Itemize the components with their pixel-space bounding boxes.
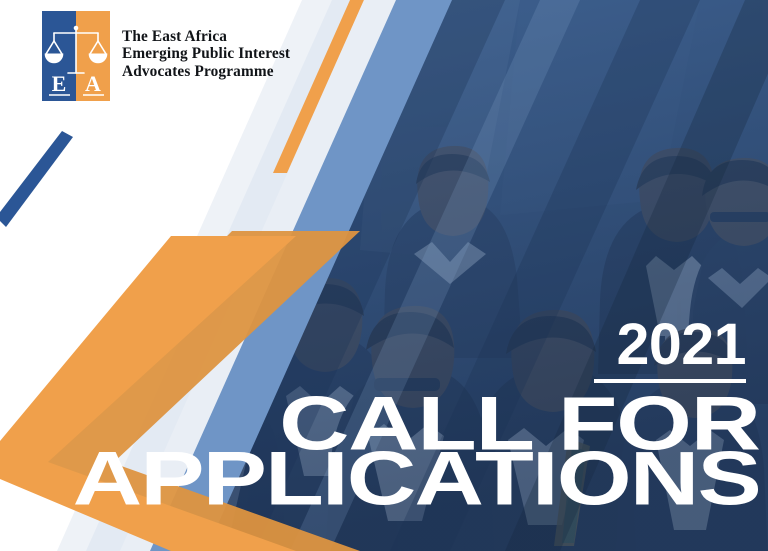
poster-canvas: E A The East Africa Emerging Public Inte… (0, 0, 768, 551)
logo-letter-a: A (85, 71, 101, 96)
logo-title: The East Africa Emerging Public Interest… (122, 28, 290, 80)
logo-title-line-2: Emerging Public Interest (122, 45, 290, 62)
logo-mark: E A (42, 11, 110, 101)
logo-title-line-1: The East Africa (122, 28, 290, 45)
logo-letter-e: E (52, 71, 67, 96)
logo: E A The East Africa Emerging Public Inte… (42, 11, 290, 101)
logo-title-line-3: Advocates Programme (122, 63, 290, 80)
